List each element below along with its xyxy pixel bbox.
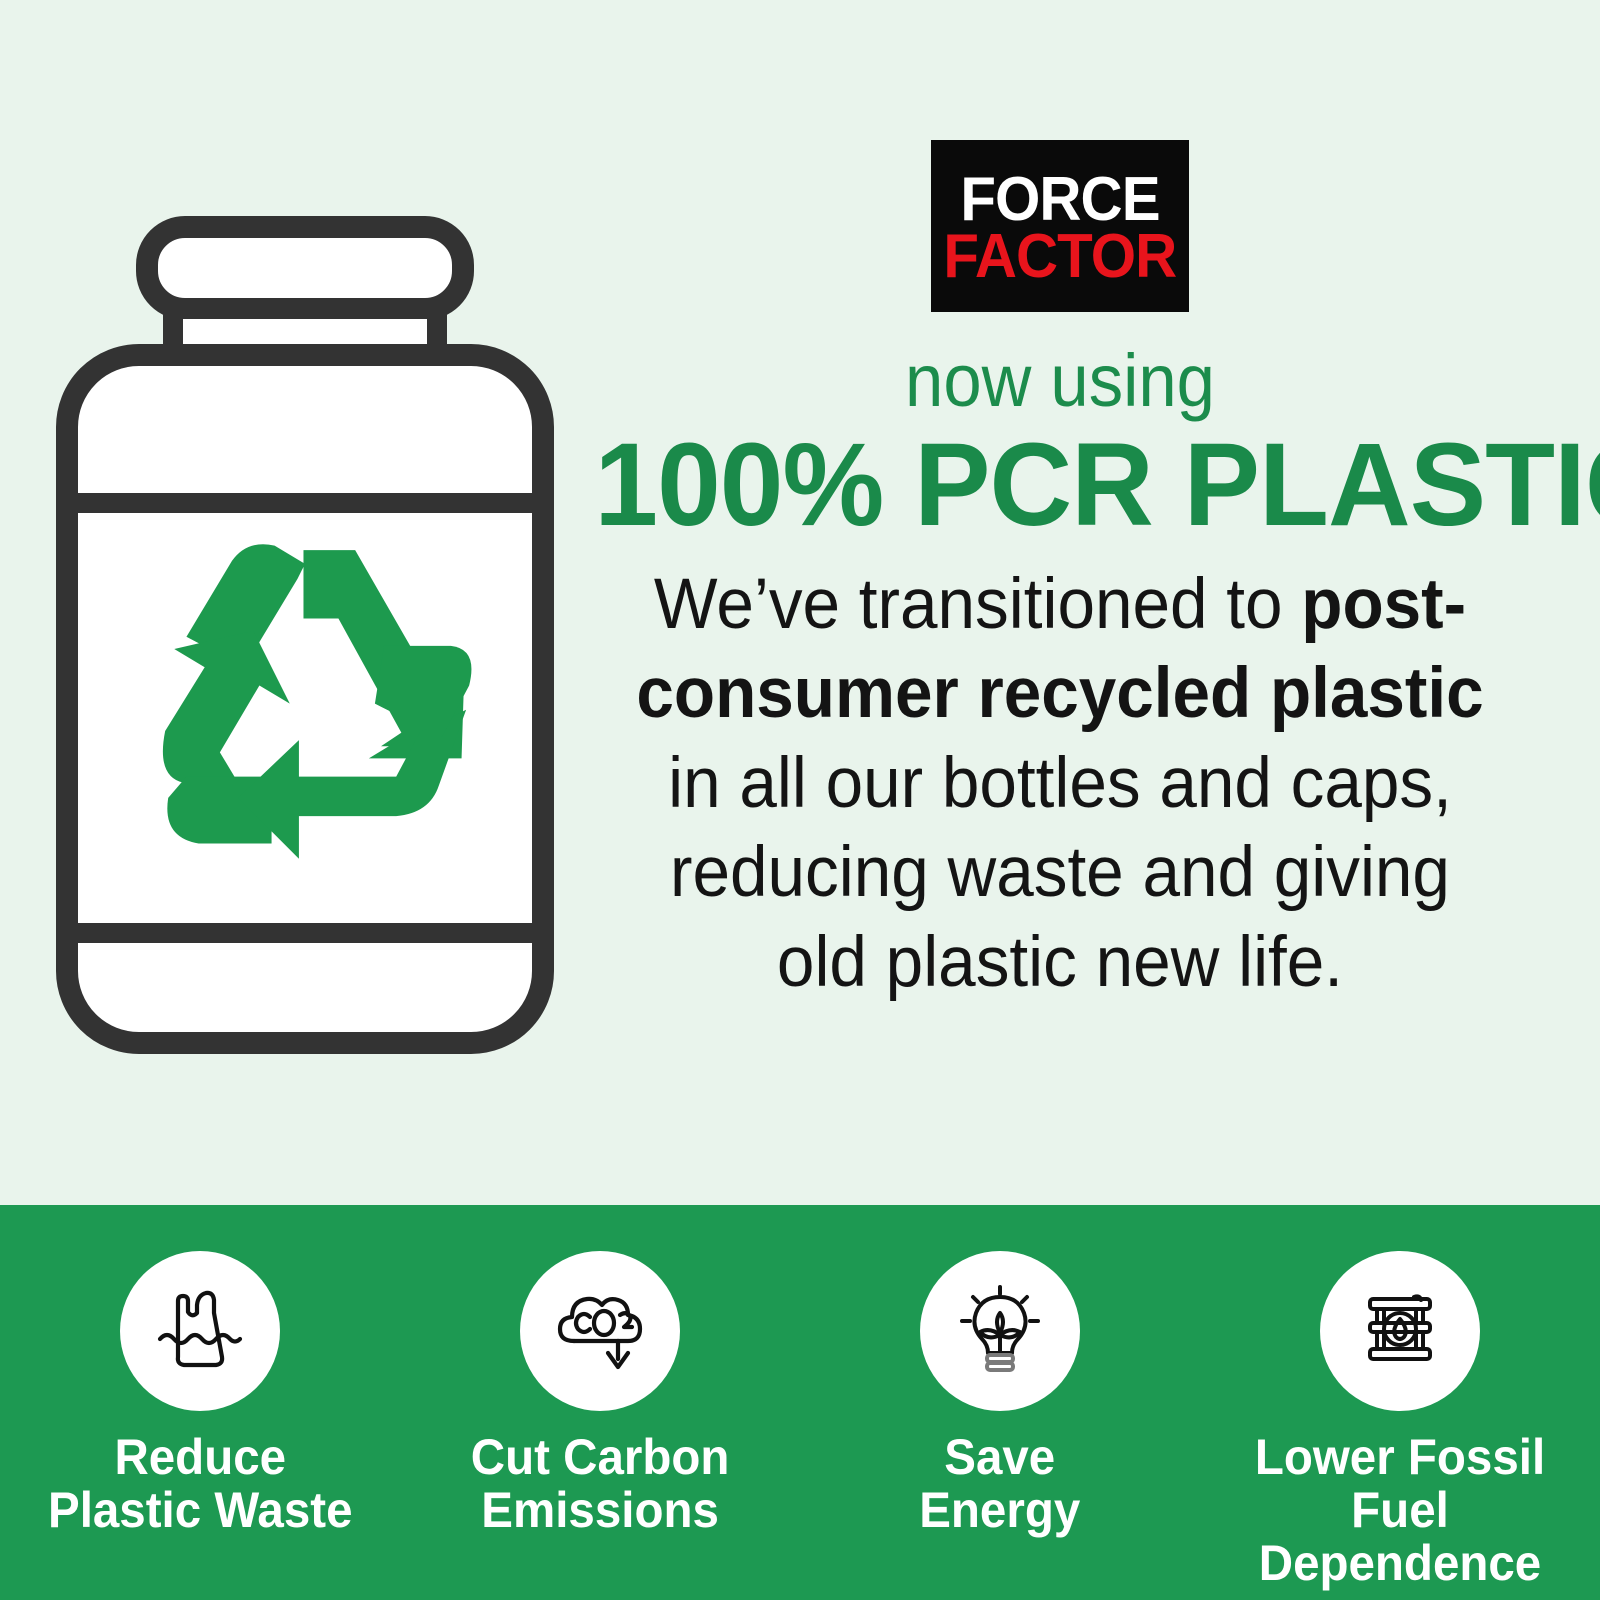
bottle-illustration [55, 215, 555, 1055]
body-prefix: We’ve transitioned to [654, 565, 1301, 644]
benefit-icon-circle [120, 1251, 280, 1411]
force-factor-logo: FORCE FACTOR [931, 140, 1189, 312]
benefit-label: Save Energy [919, 1431, 1080, 1537]
logo-text-force: FORCE [960, 171, 1159, 228]
lightbulb-plant-icon [946, 1277, 1054, 1385]
oil-barrel-droplet-icon [1346, 1277, 1454, 1385]
plastic-bag-in-water-icon [146, 1277, 254, 1385]
benefit-label: Cut Carbon Emissions [471, 1431, 730, 1537]
benefit-label: Lower Fossil Fuel Dependence [1229, 1431, 1571, 1590]
benefit-icon-circle [1320, 1251, 1480, 1411]
infographic-canvas: FORCE FACTOR now using 100% PCR PLASTIC … [0, 0, 1600, 1600]
eyebrow-text: now using [614, 344, 1507, 418]
bottle-cap-ring [147, 227, 463, 309]
benefit-label: Reduce Plastic Waste [48, 1431, 352, 1537]
body-suffix: in all our bottles and caps, reducing wa… [668, 744, 1452, 1002]
co2-cloud-down-arrow-icon [546, 1277, 654, 1385]
benefit-cut-carbon-emissions: Cut Carbon Emissions [420, 1251, 780, 1537]
benefit-lower-fossil-fuel-dependence: Lower Fossil Fuel Dependence [1220, 1251, 1580, 1590]
page-title: 100% PCR PLASTIC [594, 426, 1525, 544]
benefit-reduce-plastic-waste: Reduce Plastic Waste [20, 1251, 380, 1537]
body-paragraph: We’ve transitioned to post-consumer recy… [604, 560, 1516, 1007]
logo-text-factor: FACTOR [944, 228, 1177, 285]
benefit-icon-circle [520, 1251, 680, 1411]
benefits-bar: Reduce Plastic Waste [0, 1205, 1600, 1600]
benefit-icon-circle [920, 1251, 1080, 1411]
benefit-save-energy: Save Energy [820, 1251, 1180, 1537]
info-column: FORCE FACTOR now using 100% PCR PLASTIC … [580, 140, 1540, 1007]
